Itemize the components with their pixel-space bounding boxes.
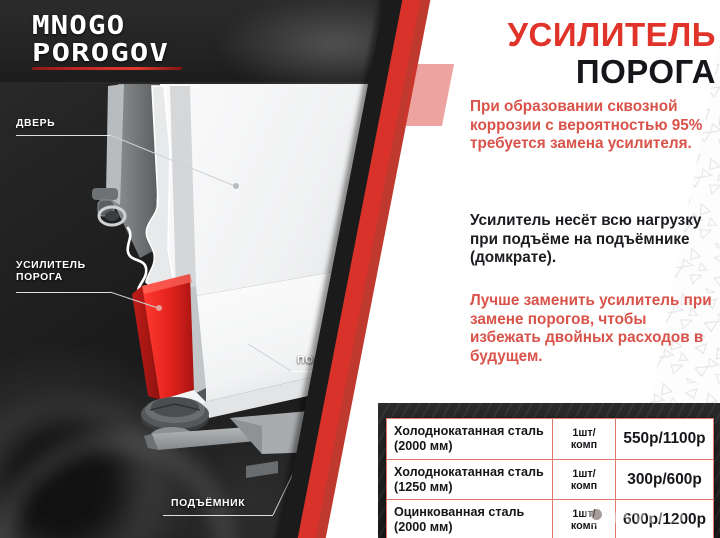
cell-price: 550р/1100р — [616, 419, 714, 460]
table-row: Оцинкованная сталь (2000 мм) 1шт/комп 60… — [387, 500, 714, 538]
paragraph-load: Усилитель несёт всю нагрузку при подъёме… — [470, 212, 716, 268]
brand-logo-line1: MNOGO — [32, 14, 234, 39]
cell-material: Оцинкованная сталь (2000 мм) — [387, 500, 553, 538]
cell-material: Холоднокатанная сталь (2000 мм) — [387, 419, 553, 460]
table-row: Холоднокатанная сталь (2000 мм) 1шт/комп… — [387, 419, 714, 460]
label-reinforcement-line2: ПОРОГА — [16, 272, 86, 284]
paragraph-corrosion: При образовании сквозной коррозии с веро… — [470, 98, 716, 154]
cell-quantity: 1шт/комп — [553, 459, 616, 500]
brand-logo-underline — [31, 67, 183, 70]
label-door-rule — [16, 135, 110, 136]
cell-quantity: 1шт/комп — [553, 500, 616, 538]
price-table: Холоднокатанная сталь (2000 мм) 1шт/комп… — [386, 418, 714, 538]
label-reinforcement-line1: УСИЛИТЕЛЬ — [16, 260, 86, 272]
product-banner: ДВЕРЬ УСИЛИТЕЛЬ ПОРОГА ПОРОГ ПОДЪЁМНИК — [0, 0, 720, 538]
page-title-line1: УСИЛИТЕЛЬ — [478, 18, 716, 52]
cell-price: 600р/1200р — [616, 500, 714, 538]
page-title: УСИЛИТЕЛЬ ПОРОГА — [478, 18, 716, 88]
label-reinforcement-rule — [16, 292, 110, 293]
label-reinforcement: УСИЛИТЕЛЬ ПОРОГА — [16, 260, 86, 285]
brand-logo[interactable]: MNOGO POROGOV — [32, 14, 212, 70]
cell-quantity: 1шт/комп — [553, 419, 616, 460]
label-lift-rule — [163, 515, 273, 516]
page-title-line2: ПОРОГА — [478, 55, 716, 89]
cell-price: 300р/600р — [616, 459, 714, 500]
cell-material: Холоднокатанная сталь (1250 мм) — [387, 459, 553, 500]
label-door: ДВЕРЬ — [16, 118, 55, 130]
brand-logo-line2: POROGOV — [32, 41, 252, 65]
table-row: Холоднокатанная сталь (1250 мм) 1шт/комп… — [387, 459, 714, 500]
label-lift: ПОДЪЁМНИК — [171, 498, 245, 510]
paragraph-replacement: Лучше заменить усилитель при замене поро… — [470, 292, 716, 367]
